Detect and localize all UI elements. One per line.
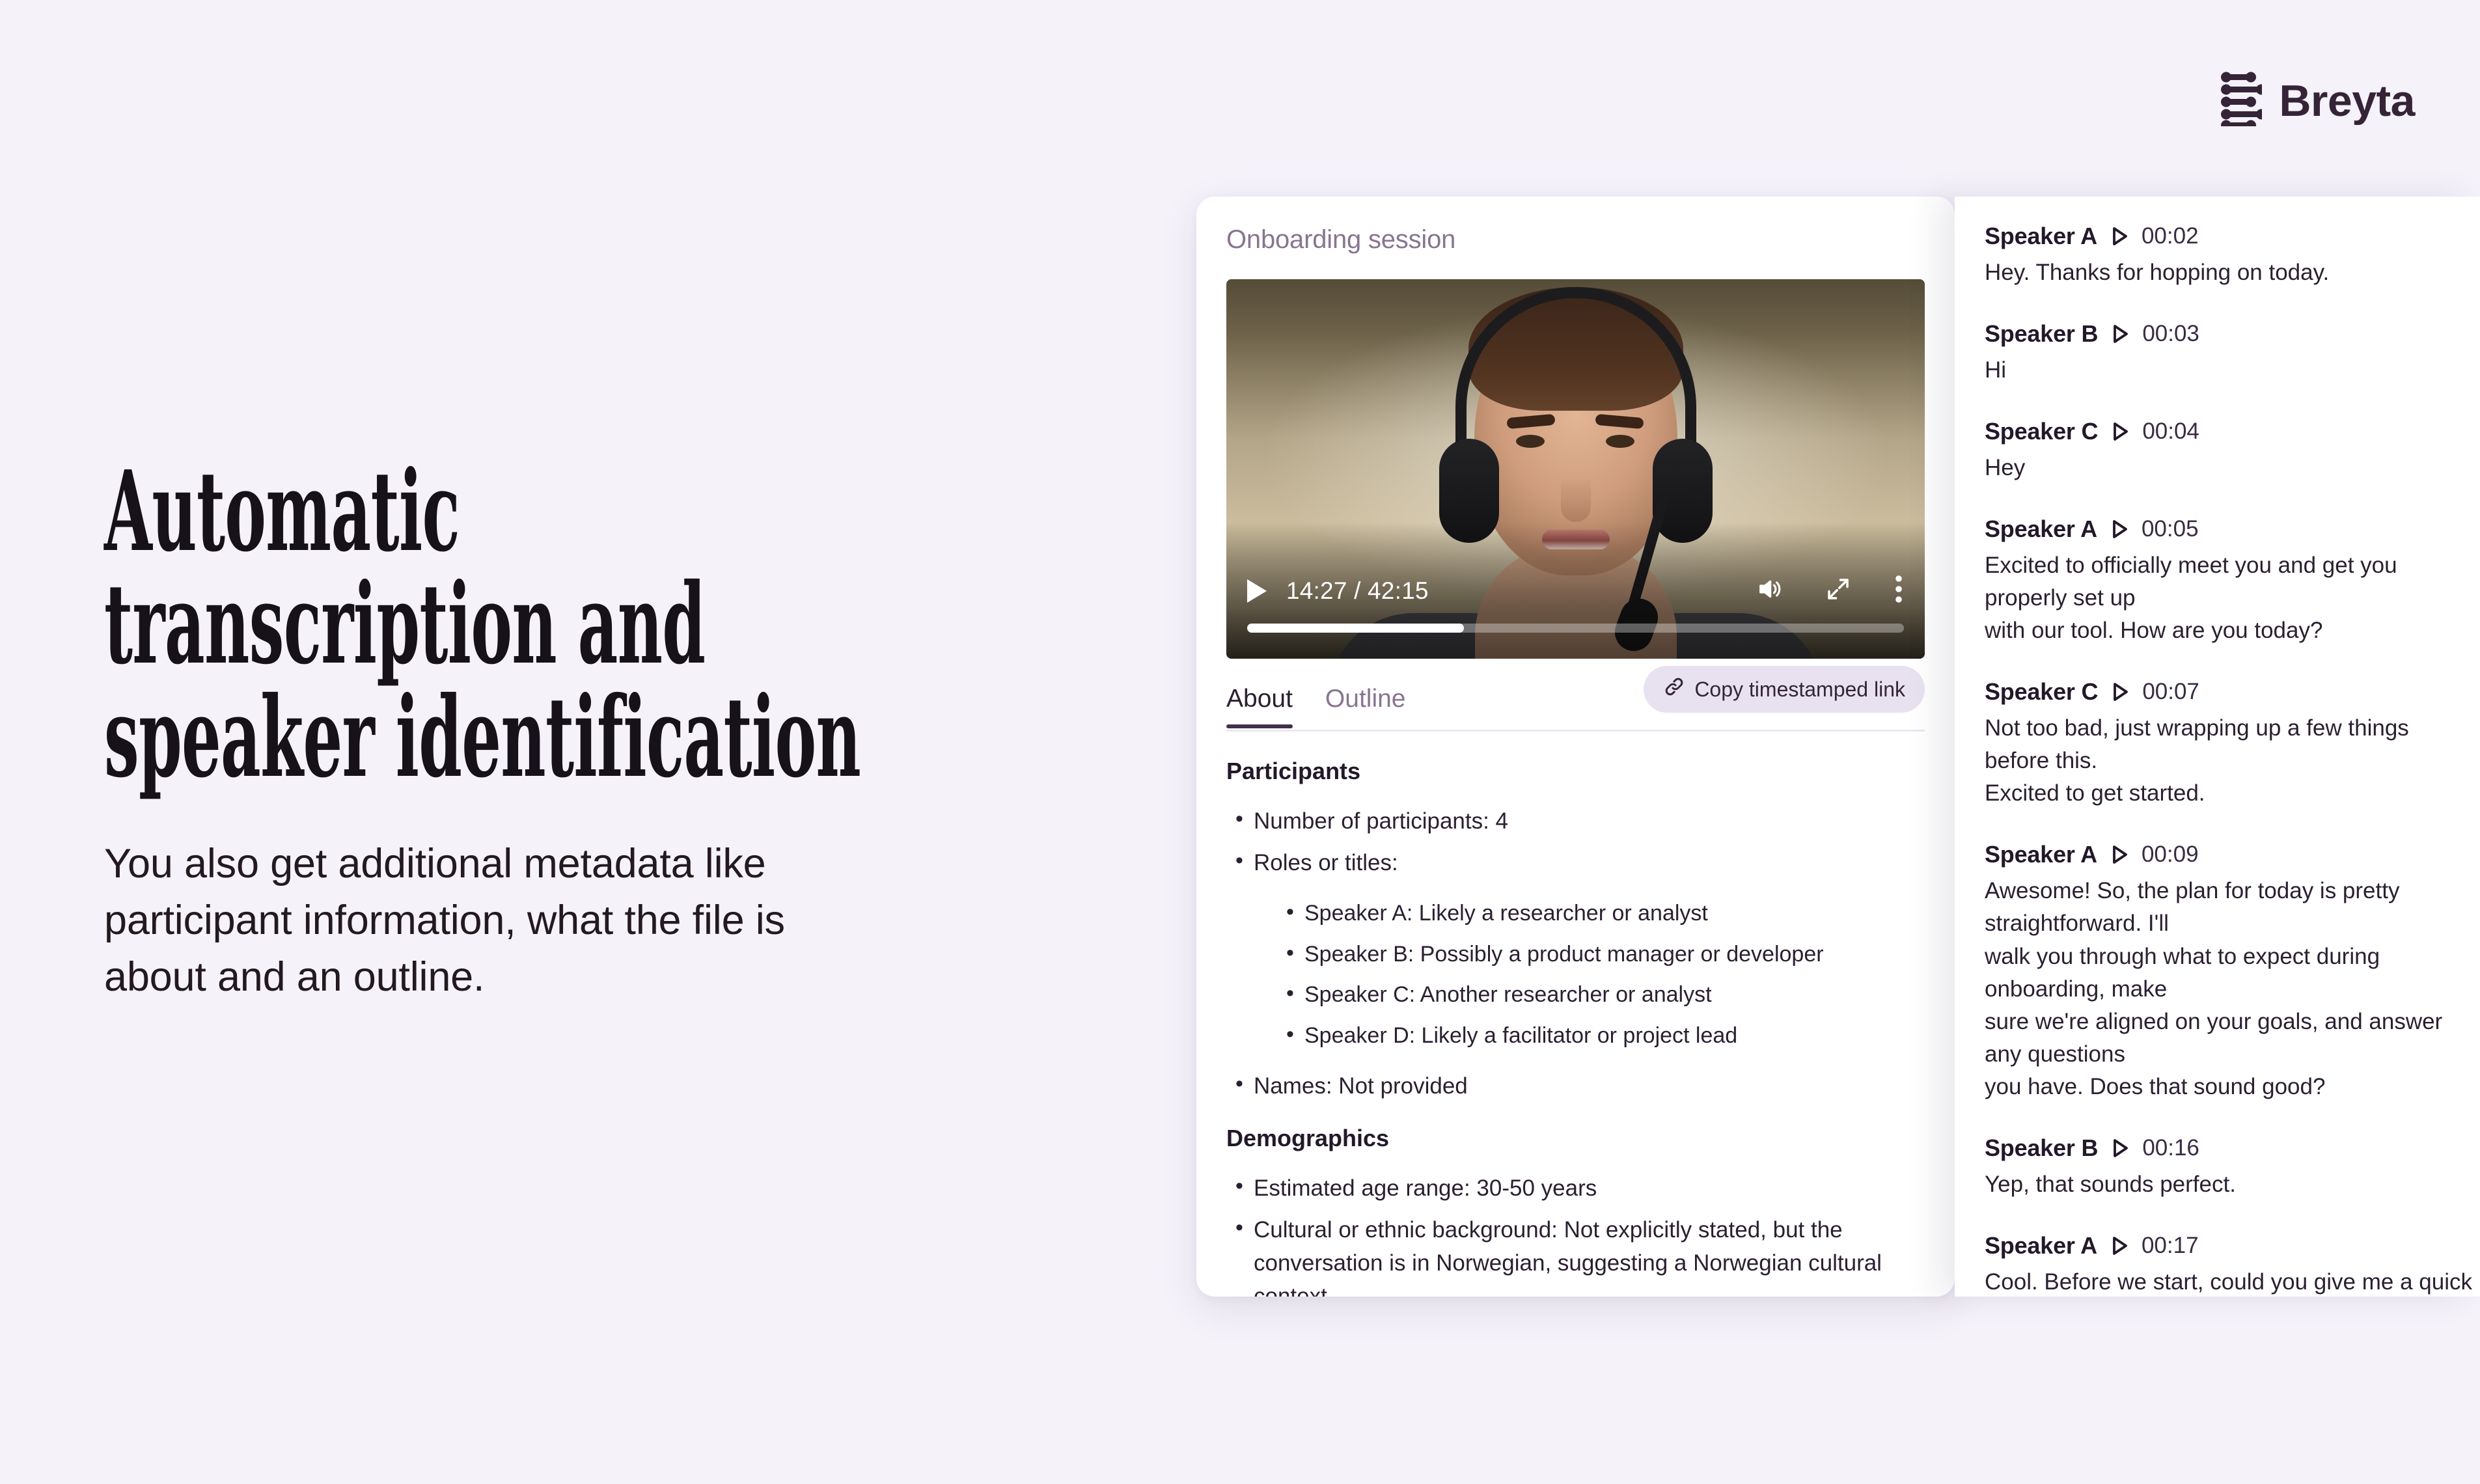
transcript-entry-header: Speaker A00:09 <box>1985 841 2480 868</box>
transcript-speaker-label: Speaker A <box>1985 841 2097 868</box>
section-heading-participants: Participants <box>1226 758 1925 785</box>
more-vertical-icon[interactable] <box>1894 573 1904 608</box>
play-triangle-icon[interactable] <box>2111 1138 2129 1159</box>
transcript-entry-header: Speaker A00:05 <box>1985 515 2480 543</box>
transcript-entry-header: Speaker B00:03 <box>1985 320 2480 348</box>
hero-title-line-1: Automatic <box>104 456 1030 568</box>
transcript-speaker-label: Speaker A <box>1985 1232 2097 1259</box>
hero-title-line-3: speaker identification <box>104 681 1030 794</box>
list-item: Speaker D: Likely a facilitator or proje… <box>1277 1020 1925 1052</box>
transcript-text: Hey. Thanks for hopping on today. <box>1985 256 2479 289</box>
transcript-speaker-label: Speaker B <box>1985 320 2098 348</box>
participants-list: Number of participants: 4 Roles or title… <box>1226 804 1925 1103</box>
hero-title-line-2: transcription and <box>104 568 1030 681</box>
hero-section: Automatic transcription and speaker iden… <box>104 456 1028 1006</box>
play-triangle-icon[interactable] <box>2110 226 2129 247</box>
tab-outline[interactable]: Outline <box>1325 685 1406 726</box>
transcript-entry[interactable]: Speaker B00:03Hi <box>1985 320 2480 387</box>
transcript-text: Hey <box>1985 452 2479 484</box>
link-icon <box>1663 676 1685 703</box>
list-item: Speaker B: Possibly a product manager or… <box>1277 939 1925 971</box>
play-triangle-icon[interactable] <box>2110 519 2129 540</box>
list-item: Number of participants: 4 <box>1226 804 1925 838</box>
transcript-entry-header: Speaker C00:04 <box>1985 418 2480 445</box>
transcript-timestamp[interactable]: 00:03 <box>2142 321 2199 347</box>
copy-timestamped-link-label: Copy timestamped link <box>1694 678 1905 702</box>
play-triangle-icon[interactable] <box>2110 844 2129 865</box>
transcript-entry[interactable]: Speaker A00:02Hey. Thanks for hopping on… <box>1985 223 2480 289</box>
transcript-speaker-label: Speaker C <box>1985 418 2098 445</box>
transcript-entry[interactable]: Speaker A00:17Cool. Before we start, cou… <box>1985 1232 2480 1297</box>
transcript-entry[interactable]: Speaker C00:07Not too bad, just wrapping… <box>1985 678 2480 810</box>
transcript-text: Awesome! So, the plan for today is prett… <box>1985 875 2479 1103</box>
list-item: Estimated age range: 30-50 years <box>1226 1172 1925 1205</box>
transcript-list: Speaker A00:02Hey. Thanks for hopping on… <box>1985 223 2480 1297</box>
transcript-speaker-label: Speaker A <box>1985 223 2097 250</box>
hero-subtitle: You also get additional metadata like pa… <box>104 836 872 1006</box>
transcript-panel[interactable]: Speaker A00:02Hey. Thanks for hopping on… <box>1955 197 2480 1297</box>
transcript-timestamp[interactable]: 00:05 <box>2142 516 2199 542</box>
transcript-text: Hi <box>1985 354 2479 387</box>
participant-roles-list: Speaker A: Likely a researcher or analys… <box>1277 898 1925 1052</box>
video-progress-fill <box>1247 624 1464 633</box>
transcript-speaker-label: Speaker C <box>1985 678 2098 706</box>
volume-icon[interactable] <box>1754 576 1784 605</box>
brand-logo[interactable]: Breyta <box>2219 72 2415 130</box>
transcript-timestamp[interactable]: 00:04 <box>2142 419 2199 445</box>
transcript-text: Not too bad, just wrapping up a few thin… <box>1985 712 2479 810</box>
video-time-display: 14:27 / 42:15 <box>1286 577 1429 605</box>
demographics-list: Estimated age range: 30-50 years Cultura… <box>1226 1172 1925 1297</box>
transcript-text: Yep, that sounds perfect. <box>1985 1168 2479 1201</box>
section-heading-demographics: Demographics <box>1226 1125 1925 1152</box>
transcript-timestamp[interactable]: 00:16 <box>2142 1135 2199 1161</box>
transcript-entry-header: Speaker A00:02 <box>1985 223 2480 250</box>
about-panel: Participants Number of participants: 4 R… <box>1226 758 1925 1297</box>
transcript-entry[interactable]: Speaker B00:16Yep, that sounds perfect. <box>1985 1134 2480 1201</box>
brand-name: Breyta <box>2279 76 2415 126</box>
transcript-entry-header: Speaker A00:17 <box>1985 1232 2480 1259</box>
tab-about[interactable]: About <box>1226 685 1293 726</box>
play-triangle-icon[interactable] <box>2110 1235 2129 1256</box>
video-controls-row: 14:27 / 42:15 <box>1247 573 1904 608</box>
session-title: Onboarding session <box>1226 225 1925 254</box>
transcript-timestamp[interactable]: 00:07 <box>2142 679 2199 705</box>
play-triangle-icon[interactable] <box>2111 323 2129 344</box>
copy-timestamped-link-button[interactable]: Copy timestamped link <box>1644 666 1925 713</box>
app-mockup: Onboarding session 14:27 / 42:15 <box>1196 197 2480 1297</box>
transcript-timestamp[interactable]: 00:09 <box>2142 842 2199 868</box>
transcript-entry[interactable]: Speaker A00:09Awesome! So, the plan for … <box>1985 841 2480 1103</box>
play-triangle-icon[interactable] <box>2111 681 2129 702</box>
transcript-timestamp[interactable]: 00:02 <box>2142 223 2199 249</box>
list-item: Roles or titles: <box>1226 846 1925 879</box>
transcript-entry-header: Speaker B00:16 <box>1985 1134 2480 1162</box>
list-item: Speaker C: Another researcher or analyst <box>1277 979 1925 1011</box>
transcript-entry[interactable]: Speaker C00:04Hey <box>1985 418 2480 484</box>
video-player[interactable]: 14:27 / 42:15 <box>1226 279 1925 659</box>
transcript-entry[interactable]: Speaker A00:05Excited to officially meet… <box>1985 515 2480 647</box>
list-item: Names: Not provided <box>1226 1069 1925 1103</box>
transcript-entry-header: Speaker C00:07 <box>1985 678 2480 706</box>
player-card: Onboarding session 14:27 / 42:15 <box>1196 197 1955 1297</box>
fullscreen-icon[interactable] <box>1825 575 1852 606</box>
transcript-speaker-label: Speaker A <box>1985 515 2097 543</box>
play-icon[interactable] <box>1247 579 1267 603</box>
video-progress-bar[interactable] <box>1247 624 1904 633</box>
transcript-timestamp[interactable]: 00:17 <box>2142 1233 2199 1259</box>
list-item: Cultural or ethnic background: Not expli… <box>1226 1213 1925 1297</box>
play-triangle-icon[interactable] <box>2111 421 2129 442</box>
transcript-speaker-label: Speaker B <box>1985 1134 2098 1162</box>
page-title: Automatic transcription and speaker iden… <box>104 456 1030 794</box>
transcript-text: Cool. Before we start, could you give me… <box>1985 1266 2479 1297</box>
list-item: Speaker A: Likely a researcher or analys… <box>1277 898 1925 930</box>
transcript-text: Excited to officially meet you and get y… <box>1985 549 2479 647</box>
breyta-bars-icon <box>2219 72 2262 130</box>
card-tabs: About Outline Copy timestamped link <box>1226 681 1925 732</box>
